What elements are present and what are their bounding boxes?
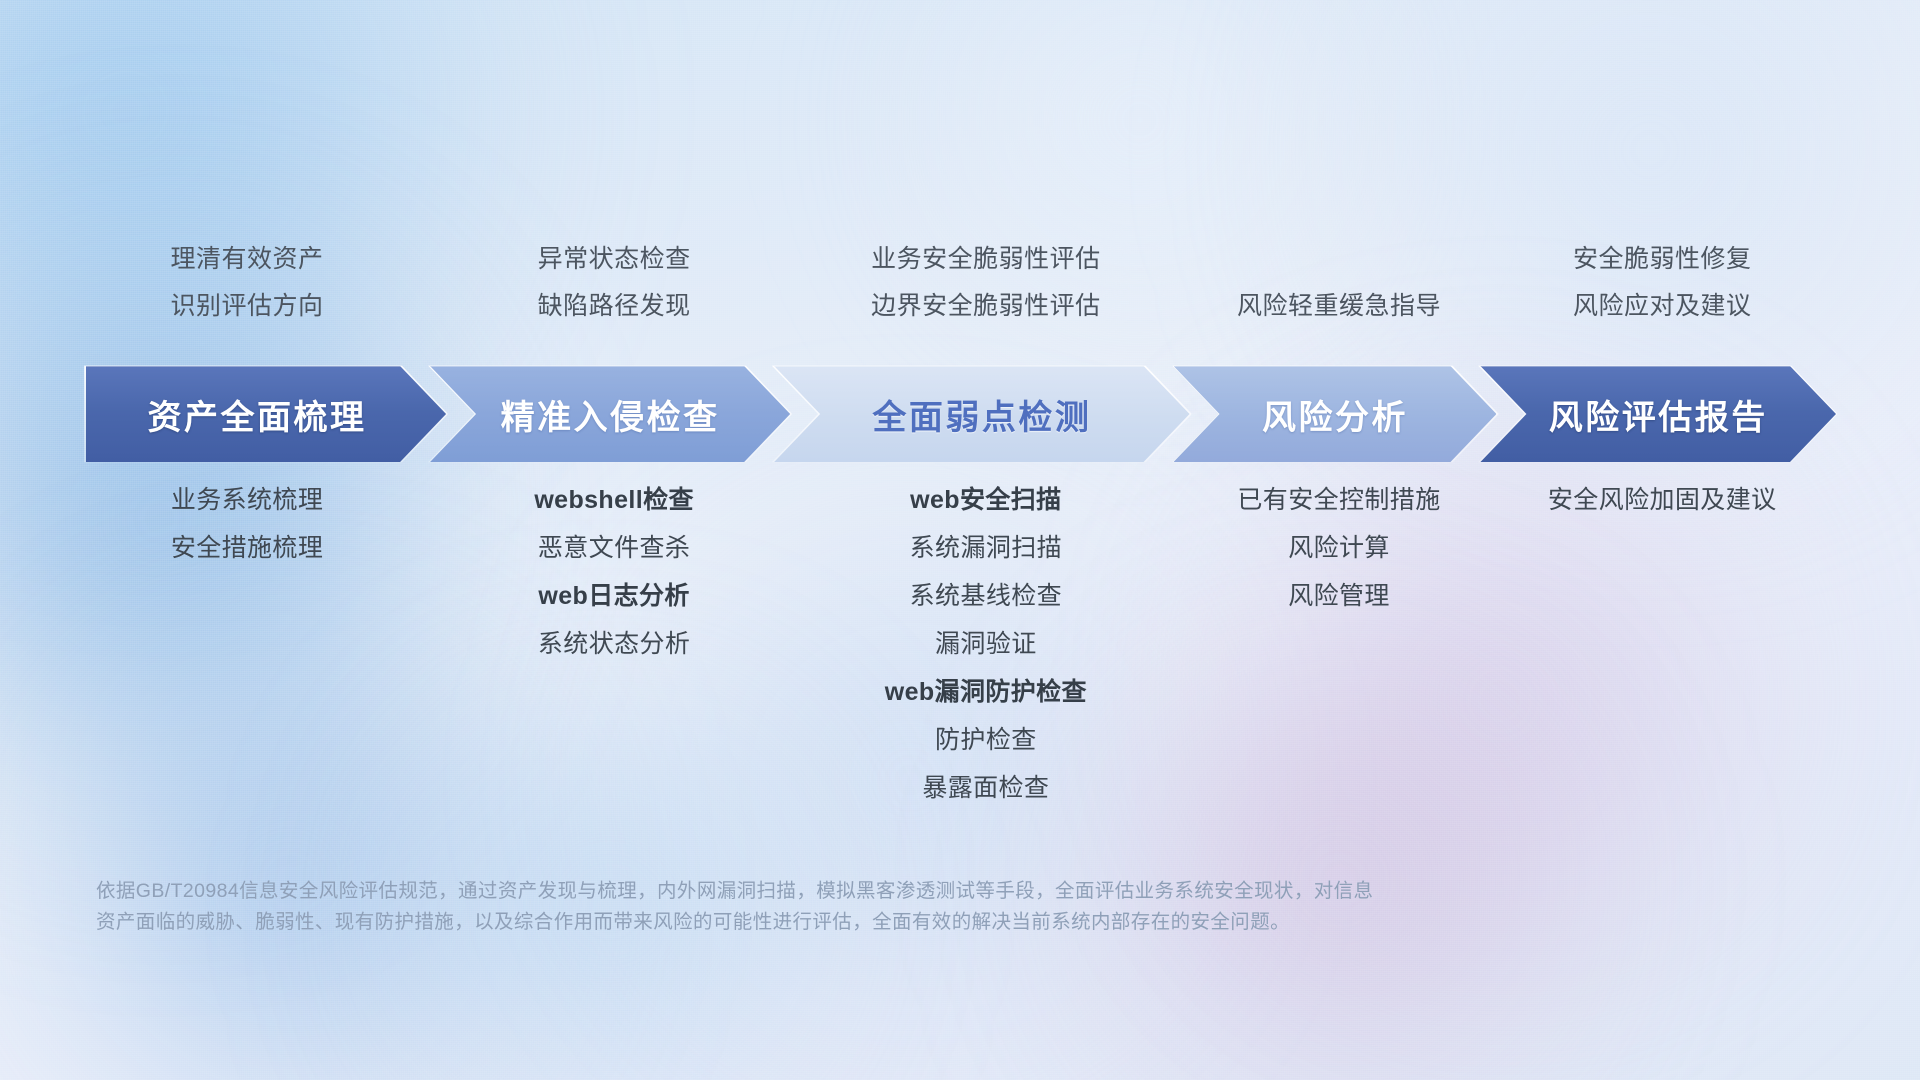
list-item[interactable]: 恶意文件查杀: [458, 524, 770, 572]
process-stage-arrow-5[interactable]: 风险评估报告: [1480, 366, 1836, 462]
top-label-column-1: 理清有效资产识别评估方向: [68, 236, 426, 330]
bottom-list-column-4: 已有安全控制措施风险计算风险管理: [1201, 476, 1476, 620]
top-label-2-2: 缺陷路径发现: [458, 283, 770, 330]
footer-line-1: 依据GB/T20984信息安全风险评估规范，通过资产发现与梳理，内外网漏洞扫描，…: [96, 876, 1616, 907]
list-item[interactable]: 安全措施梳理: [68, 524, 426, 572]
top-label-column-3: 业务安全脆弱性评估边界安全脆弱性评估: [802, 236, 1169, 330]
list-item[interactable]: 漏洞验证: [802, 620, 1169, 668]
footer-line-2: 资产面临的威胁、脆弱性、现有防护措施，以及综合作用而带来风险的可能性进行评估，全…: [96, 907, 1616, 938]
process-stage-arrow-3[interactable]: 全面弱点检测: [774, 366, 1189, 462]
stage-title-1: 资产全面梳理: [148, 390, 385, 439]
footer-description: 依据GB/T20984信息安全风险评估规范，通过资产发现与梳理，内外网漏洞扫描，…: [96, 876, 1616, 938]
list-item[interactable]: 安全风险加固及建议: [1508, 476, 1816, 524]
bottom-list-column-1: 业务系统梳理安全措施梳理: [68, 476, 426, 572]
list-item[interactable]: 系统漏洞扫描: [802, 524, 1169, 572]
list-item[interactable]: 暴露面检查: [802, 764, 1169, 812]
stage-title-4: 风险分析: [1244, 390, 1426, 439]
list-item[interactable]: web日志分析: [458, 572, 770, 620]
list-item[interactable]: web漏洞防护检查: [802, 668, 1169, 716]
list-item[interactable]: 系统状态分析: [458, 620, 770, 668]
stage-title-5: 风险评估报告: [1531, 390, 1786, 439]
top-label-column-4: 风险轻重缓急指导: [1201, 283, 1476, 330]
stage-title-3: 全面弱点检测: [854, 390, 1109, 439]
process-diagram: 理清有效资产识别评估方向异常状态检查缺陷路径发现业务安全脆弱性评估边界安全脆弱性…: [0, 0, 1920, 1080]
top-label-5-1: 安全脆弱性修复: [1508, 236, 1816, 283]
bottom-list-column-3: web安全扫描系统漏洞扫描系统基线检查漏洞验证web漏洞防护检查防护检查暴露面检…: [802, 476, 1169, 812]
list-item[interactable]: 风险管理: [1201, 572, 1476, 620]
process-stage-arrow-1[interactable]: 资产全面梳理: [86, 366, 446, 462]
top-label-column-2: 异常状态检查缺陷路径发现: [458, 236, 770, 330]
bottom-list-column-5: 安全风险加固及建议: [1508, 476, 1816, 524]
list-item[interactable]: 防护检查: [802, 716, 1169, 764]
top-label-4-1: 风险轻重缓急指导: [1201, 283, 1476, 330]
list-item[interactable]: webshell检查: [458, 476, 770, 524]
process-stage-arrow-4[interactable]: 风险分析: [1174, 366, 1497, 462]
list-item[interactable]: 风险计算: [1201, 524, 1476, 572]
list-item[interactable]: 业务系统梳理: [68, 476, 426, 524]
top-label-column-5: 安全脆弱性修复风险应对及建议: [1508, 236, 1816, 330]
process-stage-arrow-2[interactable]: 精准入侵检查: [430, 366, 790, 462]
top-label-1-2: 识别评估方向: [68, 283, 426, 330]
list-item[interactable]: web安全扫描: [802, 476, 1169, 524]
list-item[interactable]: 系统基线检查: [802, 572, 1169, 620]
bottom-list-column-2: webshell检查恶意文件查杀web日志分析系统状态分析: [458, 476, 770, 668]
top-label-3-1: 业务安全脆弱性评估: [802, 236, 1169, 283]
process-arrow-band: 资产全面梳理精准入侵检查全面弱点检测风险分析风险评估报告: [86, 366, 1836, 462]
top-label-3-2: 边界安全脆弱性评估: [802, 283, 1169, 330]
stage-title-2: 精准入侵检查: [483, 390, 738, 439]
list-item[interactable]: 已有安全控制措施: [1201, 476, 1476, 524]
top-label-5-2: 风险应对及建议: [1508, 283, 1816, 330]
top-label-2-1: 异常状态检查: [458, 236, 770, 283]
top-label-1-1: 理清有效资产: [68, 236, 426, 283]
